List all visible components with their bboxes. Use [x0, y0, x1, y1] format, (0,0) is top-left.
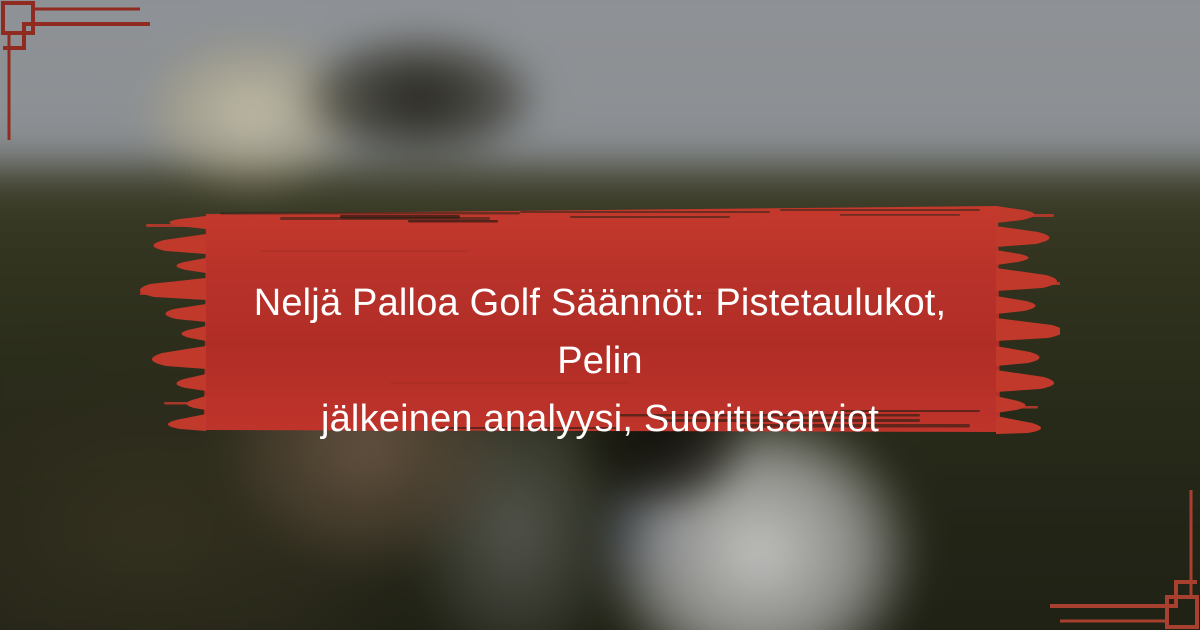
- page-title: Neljä Palloa Golf Säännöt: Pistetaulukot…: [210, 274, 990, 448]
- og-image-card: Neljä Palloa Golf Säännöt: Pistetaulukot…: [0, 0, 1200, 630]
- page-title-line-2: jälkeinen analyysi, Suoritusarviot: [321, 398, 879, 440]
- title-brush-banner: Neljä Palloa Golf Säännöt: Pistetaulukot…: [140, 196, 1060, 444]
- page-title-line-1: Neljä Palloa Golf Säännöt: Pistetaulukot…: [254, 282, 947, 382]
